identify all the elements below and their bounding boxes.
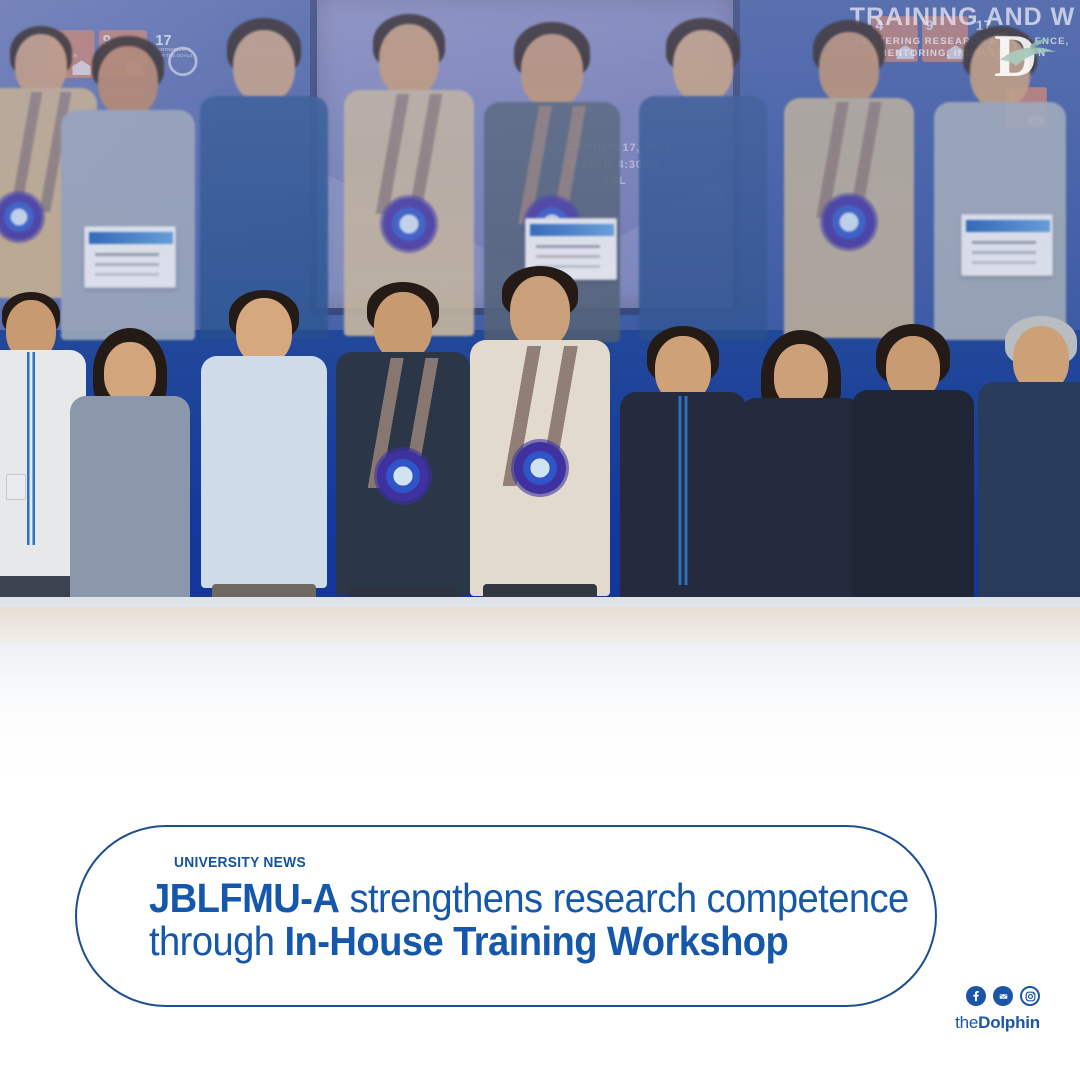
- person-back-6: [640, 18, 766, 328]
- brand-wordmark: theDolphin: [955, 1013, 1040, 1033]
- headline-line-2: through In-House Training Workshop: [149, 920, 874, 963]
- email-icon[interactable]: [993, 986, 1013, 1006]
- certificate: [84, 226, 176, 288]
- headline-line-1: JBLFMU-A strengthens research competence: [149, 877, 874, 920]
- floor-strip: [0, 607, 1080, 641]
- headline-rest-1: strengthens research competence: [339, 875, 908, 921]
- certificate: [961, 214, 1053, 276]
- brand-name: Dolphin: [978, 1013, 1040, 1032]
- news-photo: 4 QUALITY EDUCATION 9 INDUSTRY, INNOVATI…: [0, 0, 1080, 812]
- kicker-label: UNIVERSITY NEWS: [174, 854, 306, 871]
- news-card: UNIVERSITY NEWS JBLFMU-A strengthens res…: [75, 825, 937, 1007]
- person-back-4: [345, 14, 473, 326]
- person-back-2: [60, 36, 196, 336]
- dolphin-d-monogram-logo: D: [986, 16, 1062, 92]
- person-back-7: [785, 20, 913, 328]
- brand-prefix: the: [955, 1013, 978, 1032]
- social-links[interactable]: [966, 986, 1040, 1006]
- headline-institution: JBLFMU-A: [149, 875, 339, 921]
- headline-rest-2: through: [149, 918, 284, 964]
- page-title: JBLFMU-A strengthens research competence…: [149, 877, 874, 963]
- person-back-3: [200, 18, 328, 328]
- photo-floor: [0, 597, 1080, 812]
- facebook-icon[interactable]: [966, 986, 986, 1006]
- instagram-icon[interactable]: [1020, 986, 1040, 1006]
- headline-event: In-House Training Workshop: [284, 918, 788, 964]
